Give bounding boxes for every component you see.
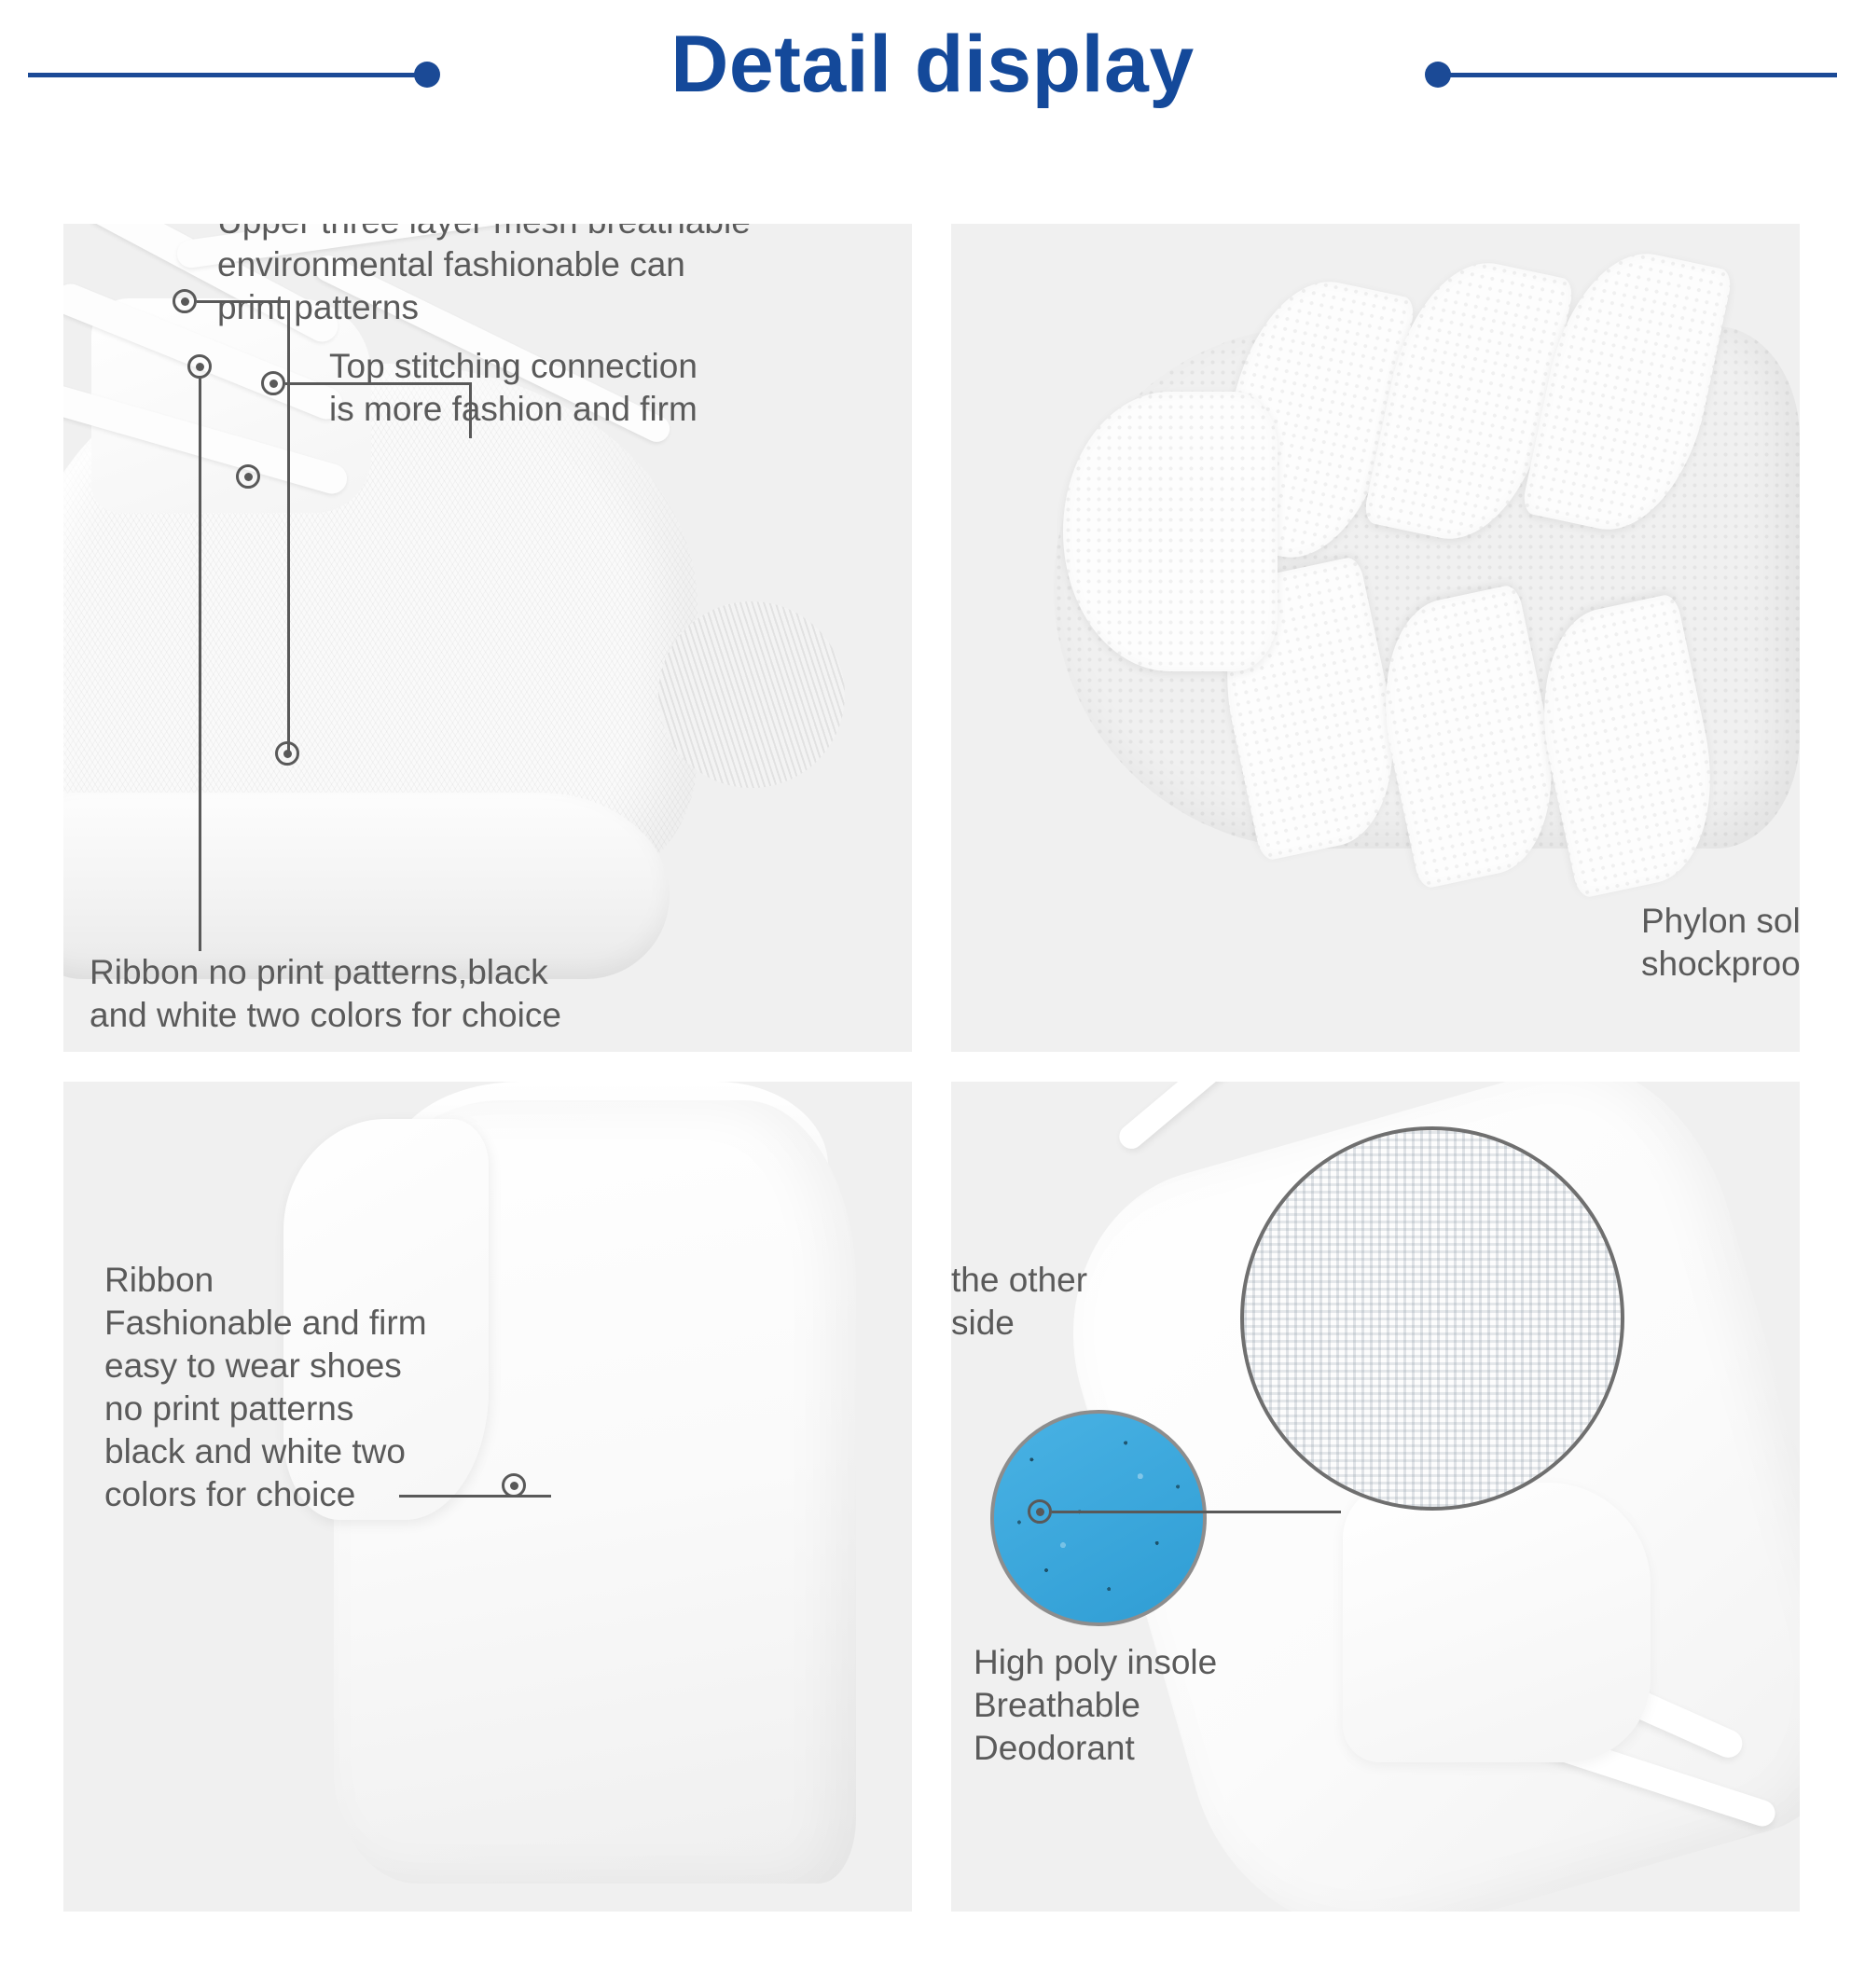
- header-dot-right: [1425, 62, 1451, 88]
- callout-top-stitching-text: Top stitching connection is more fashion…: [329, 345, 851, 431]
- callout-ribbon-colors-text: Ribbon no print patterns,black and white…: [90, 951, 668, 1037]
- target-icon-ribbon[interactable]: [187, 354, 212, 379]
- header-rule-right: [1445, 73, 1837, 77]
- target-icon-stitching[interactable]: [261, 371, 285, 395]
- leader-line-insole: [1052, 1511, 1341, 1513]
- panel-ribbon-heel: Ribbon Fashionable and firm easy to wear…: [63, 1082, 912, 1912]
- target-icon-insole[interactable]: [1028, 1499, 1052, 1524]
- outsole-heel-pad: [1063, 392, 1278, 671]
- leader-line-stitching-v: [469, 382, 472, 438]
- target-icon-mesh[interactable]: [173, 289, 197, 313]
- insole-zoom-circle: [990, 1410, 1207, 1626]
- stitching-zoom-circle: [658, 601, 845, 788]
- leader-line-mesh-h: [197, 300, 290, 303]
- leader-line-ribbon-v: [199, 379, 201, 951]
- panel-phylon-sole: Phylon sole Environmental protection sho…: [951, 224, 1800, 1052]
- callout-upper-mesh-text: Upper three layer mesh breathable enviro…: [217, 224, 814, 329]
- panel-insole: the other side High poly insole Breathab…: [951, 1082, 1800, 1912]
- leader-line-stitching-h: [285, 382, 472, 385]
- panel-upper-mesh: Upper three layer mesh breathable enviro…: [63, 224, 912, 1052]
- target-icon-ribbon-heel[interactable]: [502, 1473, 526, 1498]
- detail-display-page: Detail display Upper three layer mesh br…: [0, 0, 1865, 1988]
- target-icon-mesh-end[interactable]: [275, 741, 299, 766]
- caption-phylon-sole: Phylon sole Environmental protection sho…: [1641, 900, 1800, 986]
- page-header: Detail display: [0, 0, 1865, 149]
- caption-high-poly-insole: High poly insole Breathable Deodorant: [974, 1641, 1458, 1770]
- page-title: Detail display: [0, 13, 1865, 116]
- insole-shoelace-3: [1114, 1082, 1273, 1153]
- label-the-other-side: the other side: [951, 1259, 1324, 1345]
- leader-line-ribbon: [399, 1495, 551, 1498]
- target-icon-ribbon-mid[interactable]: [236, 464, 260, 489]
- leader-line-mesh-v: [287, 300, 290, 753]
